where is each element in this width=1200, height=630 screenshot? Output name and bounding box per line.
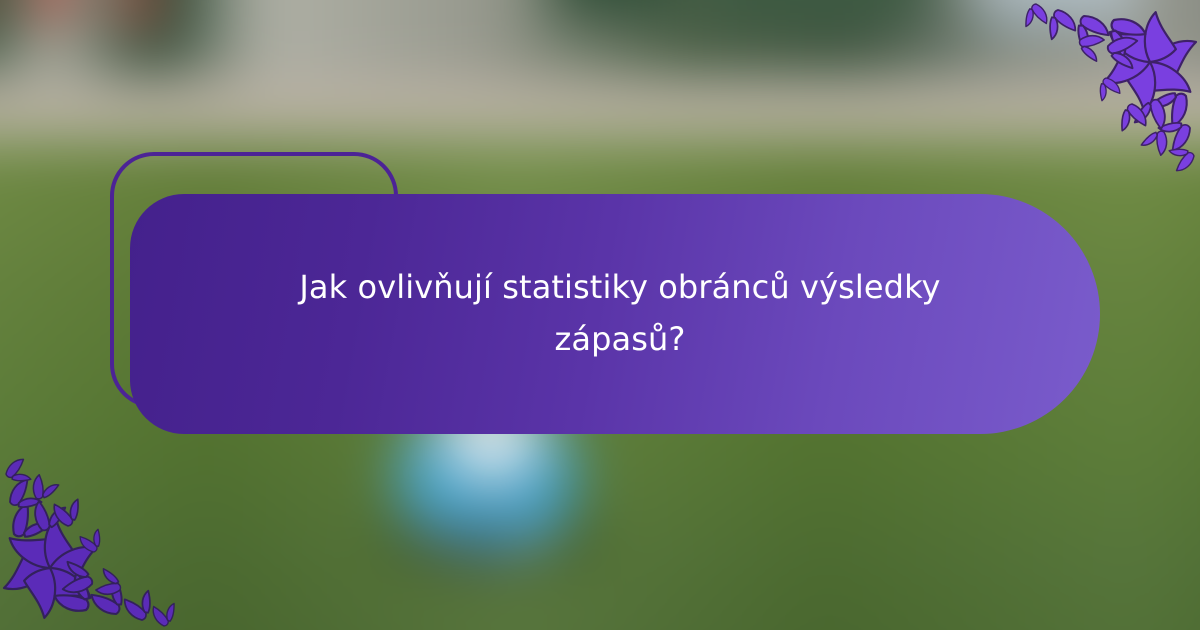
stand-foliage bbox=[706, 0, 929, 19]
stand-pillar bbox=[165, 0, 197, 28]
stand-red-marker bbox=[32, 0, 72, 21]
stand-foliage bbox=[549, 0, 676, 19]
stand-banner bbox=[982, 0, 1141, 28]
stand-red-marker bbox=[119, 0, 157, 24]
headline-card: Jak ovlivňují statistiky obránců výsledk… bbox=[130, 194, 1100, 434]
stand-pillar bbox=[0, 0, 13, 34]
page-title: Jak ovlivňují statistiky obránců výsledk… bbox=[270, 262, 970, 366]
social-card-canvas: Jak ovlivňují statistiky obránců výsledk… bbox=[0, 0, 1200, 630]
